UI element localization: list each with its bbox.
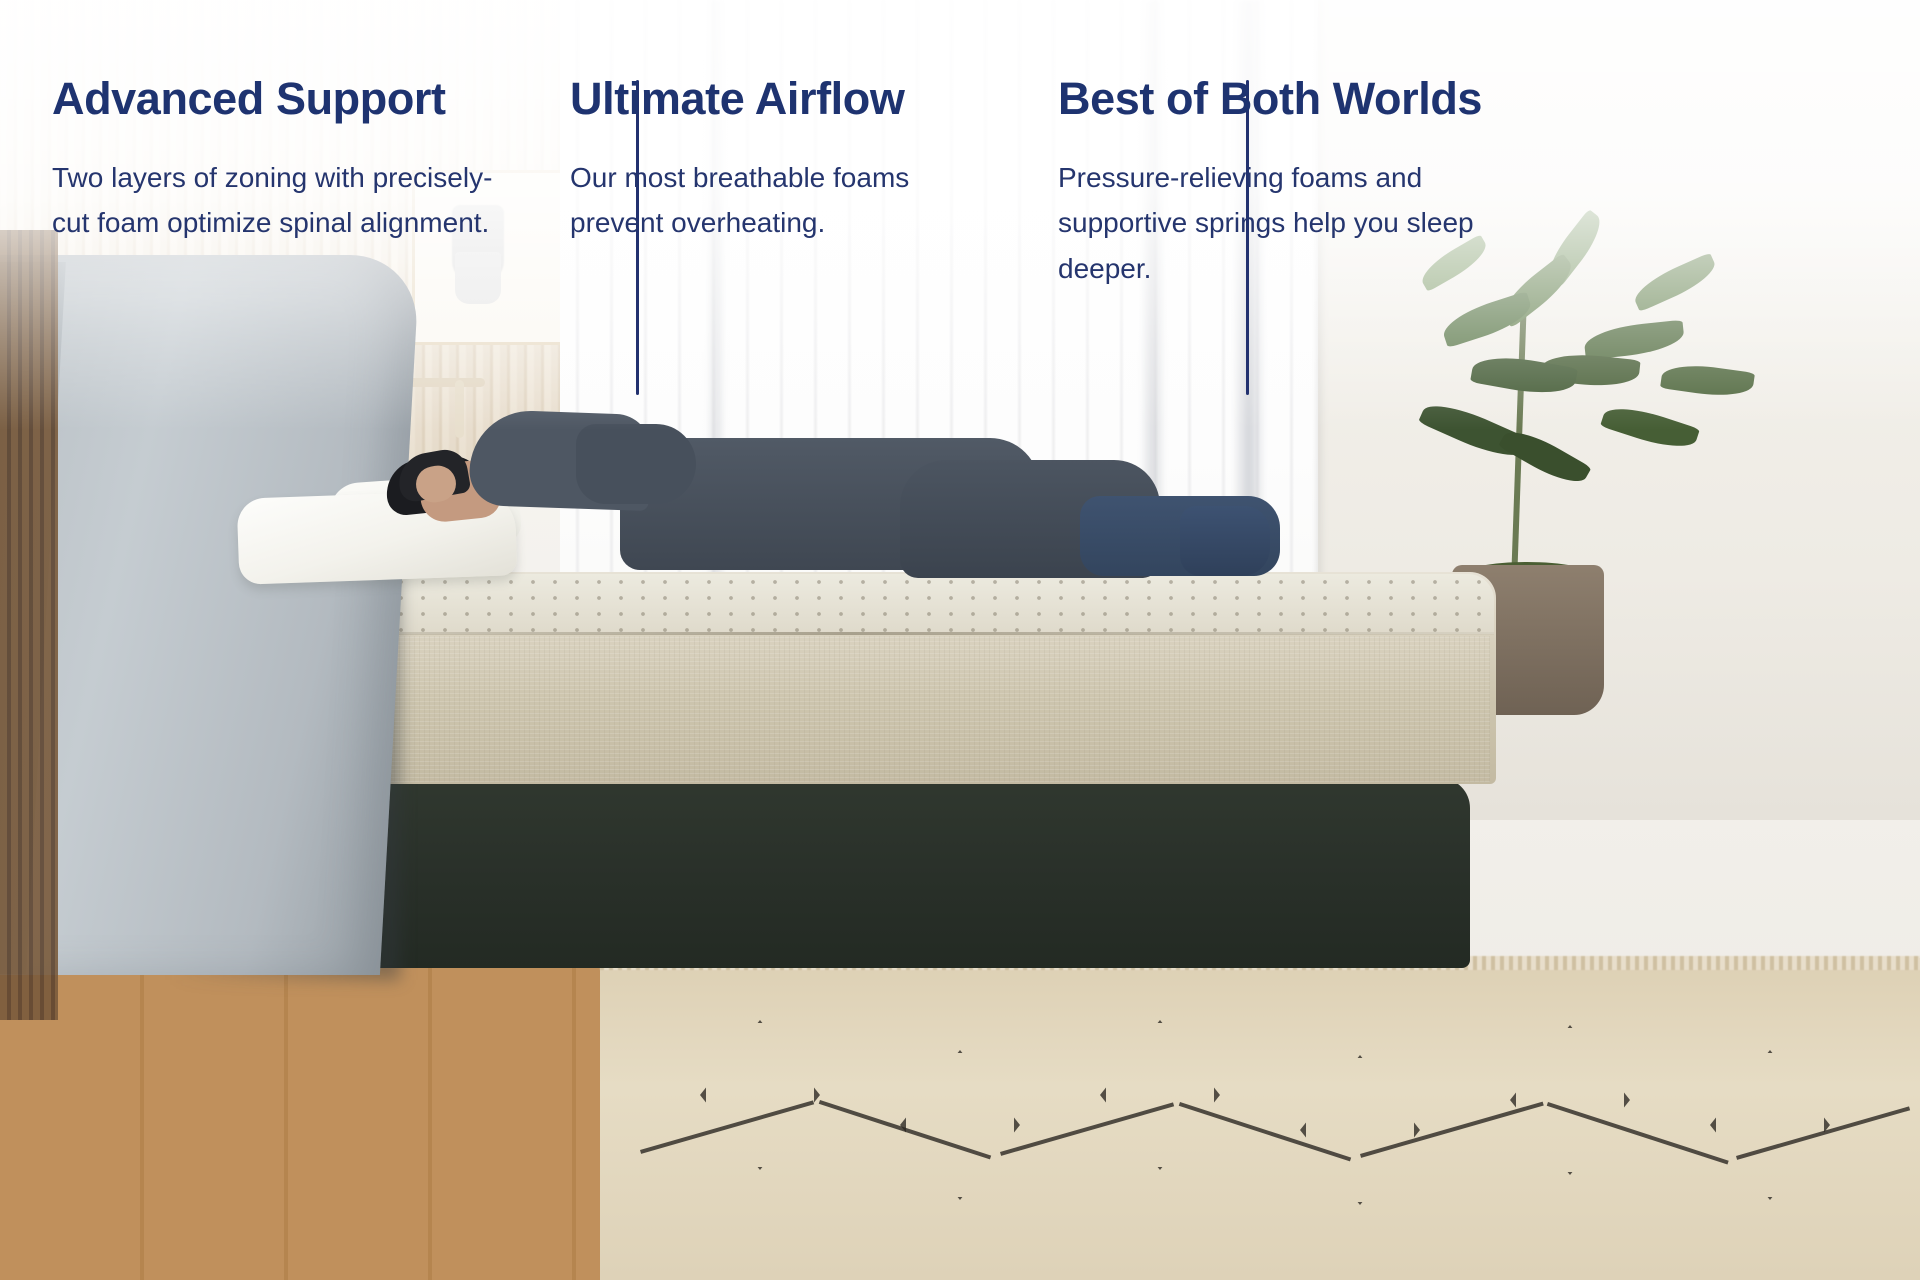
feature-body-1: Two layers of zoning with precisely-cut …: [52, 155, 522, 246]
feature-heading-1: Advanced Support: [52, 76, 522, 121]
feature-heading-2: Ultimate Airflow: [570, 76, 1000, 121]
feature-columns: Advanced Support Two layers of zoning wi…: [0, 0, 1920, 1280]
feature-column-best-of-both-worlds: Best of Both Worlds Pressure-relieving f…: [1058, 76, 1538, 291]
feature-column-ultimate-airflow: Ultimate Airflow Our most breathable foa…: [570, 76, 1000, 246]
feature-heading-3: Best of Both Worlds: [1058, 76, 1538, 121]
feature-body-3: Pressure-relieving foams and supportive …: [1058, 155, 1538, 291]
feature-column-advanced-support: Advanced Support Two layers of zoning wi…: [52, 76, 522, 246]
promo-banner: Advanced Support Two layers of zoning wi…: [0, 0, 1920, 1280]
feature-body-2: Our most breathable foams prevent overhe…: [570, 155, 1000, 246]
